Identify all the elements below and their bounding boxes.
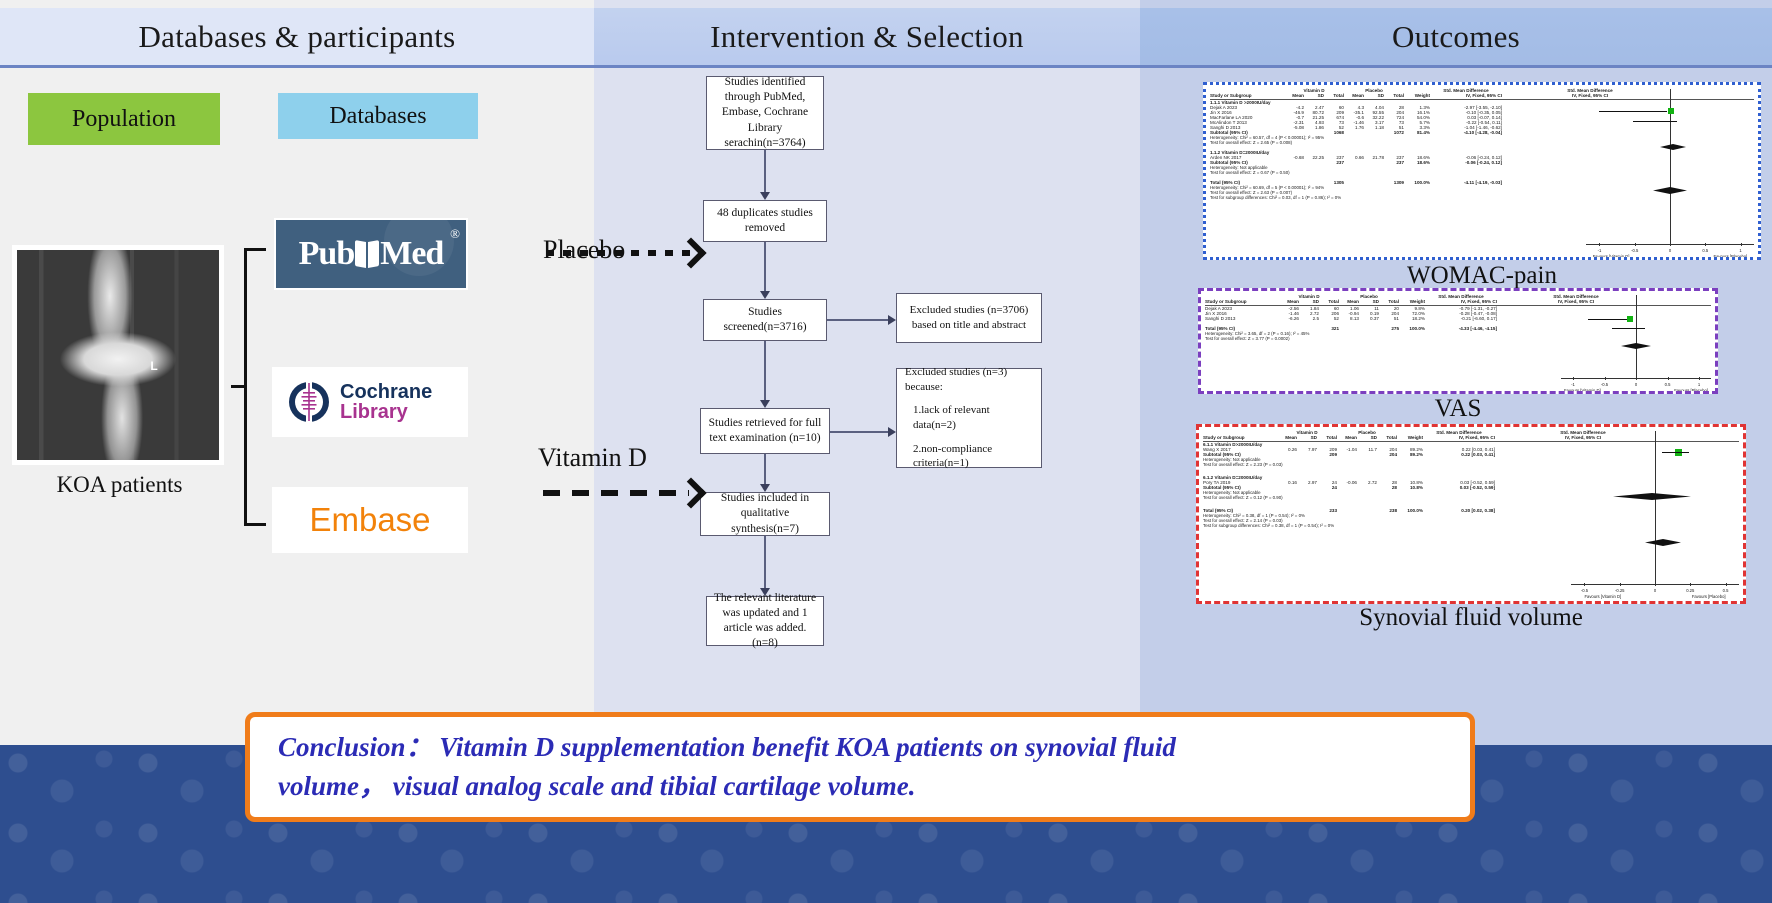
forest-1-graph: -1 -0.5 0 0.5 1 Favours [Vitamin D] Favo… (1586, 89, 1754, 245)
forest-3-null-line (1655, 431, 1656, 585)
cochrane-line-1: Cochrane (340, 382, 432, 402)
outcome-caption-synovial: Synovial fluid volume (1196, 604, 1746, 632)
placebo-arrow-line (546, 250, 690, 256)
forest-2-diamond (1621, 343, 1651, 349)
flow-arrowhead-2 (760, 291, 770, 299)
forest-plot-womac-pain: Vitamin D Placebo Std. Mean Difference S… (1203, 82, 1761, 260)
conclusion-banner: Conclusion： Vitamin D supplementation be… (245, 712, 1475, 822)
forest-plot-2-content: Vitamin D Placebo Std. Mean Difference S… (1201, 291, 1715, 391)
excluded-reasons-title: Excluded studies (n=3) because: (905, 365, 1033, 394)
exclusion-arrowhead-2 (888, 427, 896, 437)
flow-box-updated: The relevant literature was updated and … (706, 596, 824, 646)
xray-side-marker: L (150, 359, 157, 373)
flow-box-duplicates: 48 duplicates studies removed (703, 200, 827, 242)
forest-1-diamond-subtotal-2 (1653, 187, 1687, 194)
flow-box-qualitative: Studies included in qualitative synthesi… (700, 492, 830, 536)
embase-logo: Embase (272, 487, 468, 553)
forest-plot-vas: Vitamin D Placebo Std. Mean Difference S… (1198, 288, 1718, 394)
flow-arrowhead-1 (760, 192, 770, 200)
vitamind-arrow-line (543, 490, 689, 496)
flow-box-identified: Studies identified through PubMed, Embas… (706, 76, 824, 150)
knee-xray-image: L (12, 245, 224, 465)
cochrane-wordmark: Cochrane Library (340, 382, 432, 422)
flow-connector-1 (764, 150, 766, 194)
header-rule-mid (594, 65, 1140, 68)
forest-2-graph: -1 -0.5 0 0.5 1 Favours [Vitamin D] Favo… (1561, 295, 1711, 379)
header-rule-left (0, 65, 594, 68)
pubmed-wordmark: PubMed (299, 235, 444, 273)
xray-graphic: L (17, 250, 219, 460)
forest-1-whisker (1599, 111, 1666, 112)
flow-connector-3 (764, 341, 766, 402)
embase-wordmark: Embase (309, 501, 430, 539)
flow-connector-5 (764, 536, 766, 590)
forest-plot-1-content: Vitamin D Placebo Std. Mean Difference S… (1206, 85, 1758, 257)
vitamind-arrow-label: Vitamin D (538, 443, 647, 473)
databases-bracket (244, 248, 266, 526)
flow-box-excluded-fulltext: Excluded studies (n=3) because: 1.lack o… (896, 368, 1042, 468)
cochrane-mark-icon (286, 379, 332, 425)
book-icon (355, 241, 379, 267)
pubmed-logo-inner: PubMed ® (276, 220, 466, 288)
pubmed-text-pub: Pub (299, 235, 355, 272)
forest-3-graph: -0.5 -0.25 0 0.25 0.5 Favours [Vitamin D… (1571, 431, 1739, 585)
column-title-mid: Intervention & Selection (594, 8, 1140, 65)
forest-3-diamond-1 (1613, 493, 1691, 500)
conclusion-line-1: Conclusion： Vitamin D supplementation be… (278, 728, 1442, 767)
forest-plot-synovial-fluid-volume: Vitamin D Placebo Std. Mean Difference S… (1196, 424, 1746, 604)
excluded-reason-1: 1.lack of relevant data(n=2) (905, 403, 1033, 432)
forest-plot-3-content: Vitamin D Placebo Std. Mean Difference S… (1199, 427, 1743, 601)
conclusion-line-2: volume， visual analog scale and tibial c… (278, 767, 1442, 806)
flow-arrowhead-3 (760, 400, 770, 408)
registered-trademark-icon: ® (450, 226, 460, 242)
exclusion-arrowhead-1 (888, 315, 896, 325)
forest-1-marker (1668, 108, 1674, 114)
outcome-caption-womac: WOMAC-pain (1203, 262, 1761, 290)
forest-3-diamond-total (1645, 539, 1681, 546)
outcome-caption-vas: VAS (1198, 395, 1718, 423)
flow-box-excluded-title-abstract: Excluded studies (n=3706) based on title… (896, 293, 1042, 343)
excluded-reason-2: 2.non-compliance criteria(n=1) (905, 442, 1033, 471)
column-intervention-selection: Intervention & Selection (594, 0, 1140, 745)
flow-connector-2 (764, 242, 766, 293)
databases-tag: Databases (278, 93, 478, 139)
forest-1-diamond-subtotal (1660, 144, 1686, 150)
cochrane-line-2: Library (340, 402, 432, 422)
population-tag: Population (28, 93, 220, 145)
flow-box-fulltext: Studies retrieved for full text examinat… (700, 408, 830, 454)
column-title-right: Outcomes (1140, 8, 1772, 65)
flow-connector-4 (764, 454, 766, 486)
flow-box-screened: Studies screened(n=3716) (703, 299, 827, 341)
databases-bracket-stem (231, 385, 245, 388)
exclusion-connector-1 (827, 319, 890, 321)
pubmed-logo: PubMed ® (274, 218, 468, 290)
header-rule-right (1140, 65, 1772, 68)
koa-patients-label: KOA patients (12, 472, 227, 498)
pubmed-text-med: Med (380, 235, 443, 272)
cochrane-library-logo: Cochrane Library (272, 367, 468, 437)
column-title-left: Databases & participants (0, 8, 594, 65)
forest-2-null-line (1636, 295, 1637, 379)
forest-2-marker (1627, 316, 1633, 322)
infographic-canvas: Databases & participants Population Data… (0, 0, 1772, 903)
exclusion-connector-2 (830, 431, 890, 433)
